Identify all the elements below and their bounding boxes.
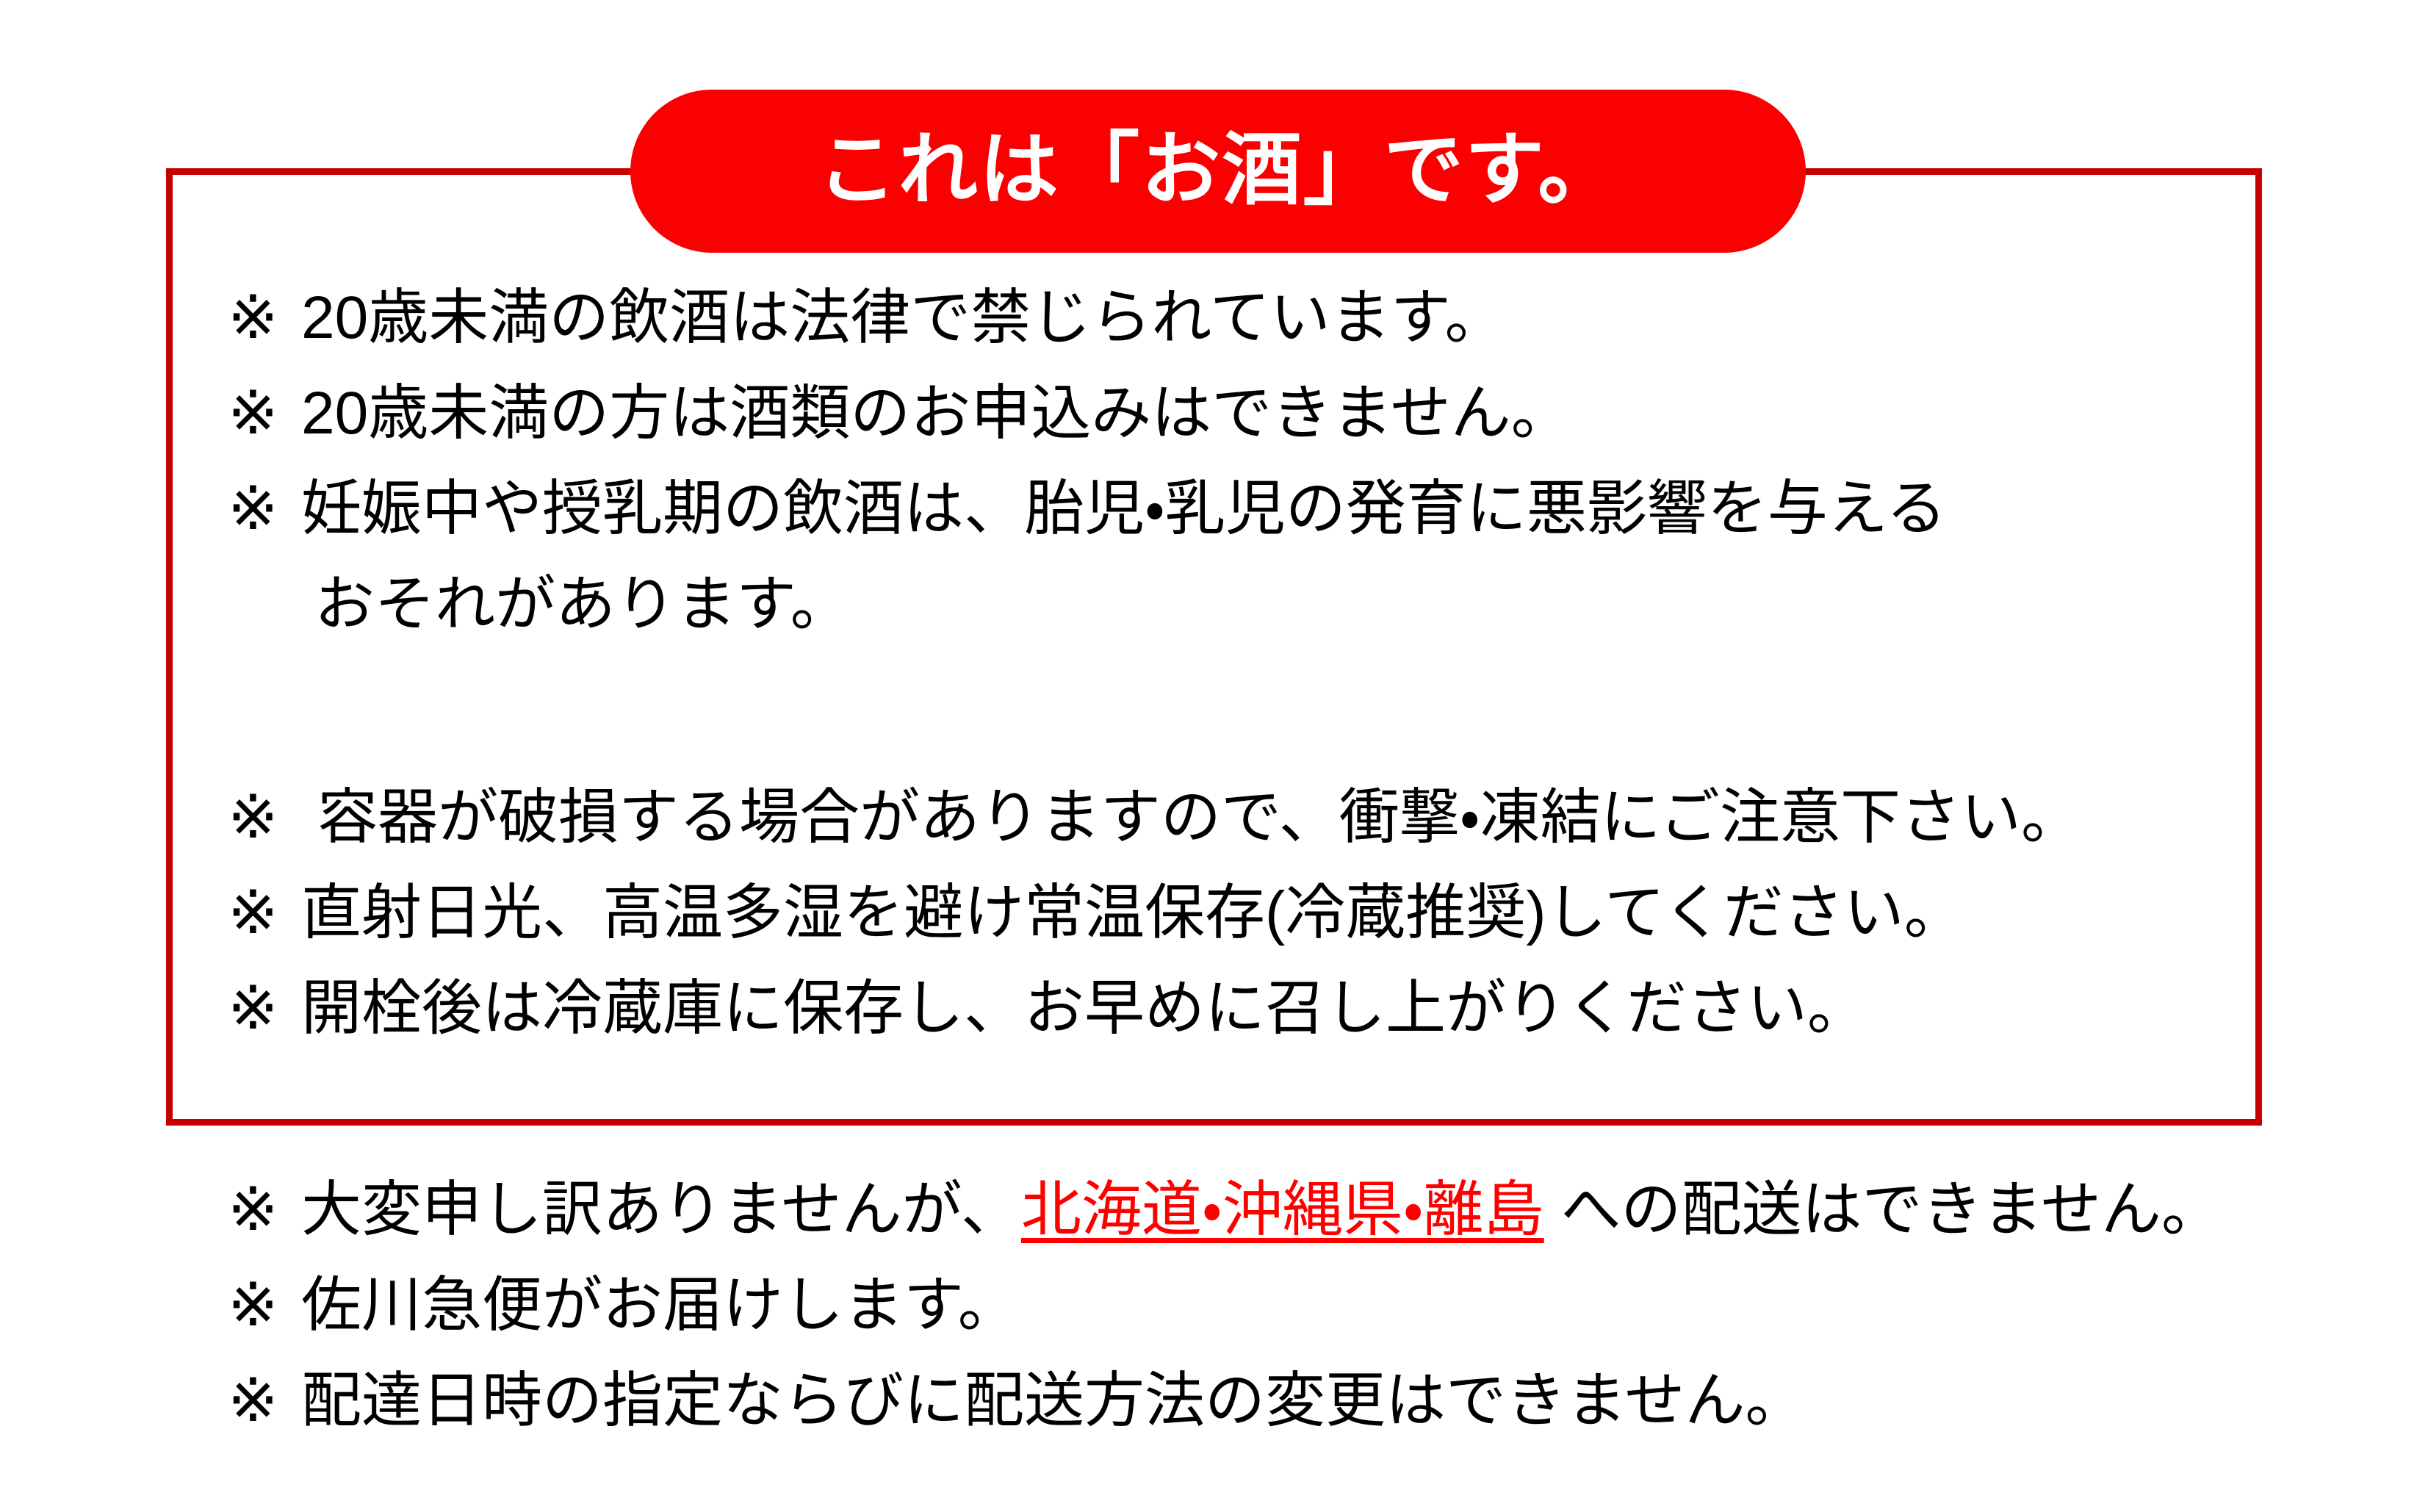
notice-line-delivery-area: ※大変申し訳ありませんが、北海道・沖縄県・離島 への配送はできません。: [228, 1162, 2226, 1258]
notice-line-carrier: ※佐川急便がお届けします。: [228, 1258, 2226, 1353]
notice-line-schedule-text: 配達日時の指定ならびに配送方法の変更はできません。: [301, 1367, 1806, 1434]
notice-line-sunlight-text: 直射日光、高温多湿を避け常温保存(冷蔵推奨)してください。: [301, 879, 1964, 946]
notice-line-opened-text: 開栓後は冷蔵庫に保存し、お早めに召し上がりください。: [301, 975, 1867, 1042]
notice-line-pregnancy-text: 妊娠中や授乳期の飲酒は、胎児・乳児の発育に悪影響を与える: [301, 475, 1946, 542]
notice-line-pregnancy-cont-text: おそれがあります。: [314, 571, 851, 638]
notice-line-pregnancy: ※妊娠中や授乳期の飲酒は、胎児・乳児の発育に悪影響を与える: [228, 461, 2211, 557]
bullet-mark-icon: ※: [228, 461, 301, 557]
notice-line-age-order-text: 20歳未満の方は酒類のお申込みはできません。: [301, 380, 1571, 447]
notice-line-container: ※容器が破損する場合がありますので、衝撃・凍結にご注意下さい。: [228, 770, 2226, 865]
bullet-mark-icon: ※: [228, 770, 317, 865]
bullet-mark-icon: ※: [228, 366, 301, 461]
notice-line-pregnancy-cont: おそれがあります。: [228, 557, 2211, 652]
notice-line-sunlight: ※直射日光、高温多湿を避け常温保存(冷蔵推奨)してください。: [228, 865, 2226, 961]
notice-line-opened: ※開栓後は冷蔵庫に保存し、お早めに召し上がりください。: [228, 961, 2226, 1056]
delivery-excluded-region: 北海道・沖縄県・離島: [1021, 1176, 1544, 1243]
bullet-mark-icon: ※: [228, 1258, 301, 1353]
age-warning-group: ※20歳未満の飲酒は法律で禁じられています。 ※20歳未満の方は酒類のお申込みは…: [228, 270, 2211, 652]
storage-warning-group: ※容器が破損する場合がありますので、衝撃・凍結にご注意下さい。 ※直射日光、高温…: [228, 770, 2226, 1056]
shipping-notice-group: ※大変申し訳ありませんが、北海道・沖縄県・離島 への配送はできません。 ※佐川急…: [228, 1162, 2226, 1449]
alcohol-badge: これは「お酒」です。: [630, 90, 1806, 253]
alcohol-notice-page: { "badge": { "label": "これは「お酒」です。", "bac…: [0, 0, 2428, 1512]
notice-line-age-law: ※20歳未満の飲酒は法律で禁じられています。: [228, 270, 2211, 366]
bullet-mark-icon: ※: [228, 961, 301, 1056]
notice-line-age-law-text: 20歳未満の飲酒は法律で禁じられています。: [301, 284, 1505, 351]
notice-line-schedule: ※配達日時の指定ならびに配送方法の変更はできません。: [228, 1353, 2226, 1449]
notice-line-age-order: ※20歳未満の方は酒類のお申込みはできません。: [228, 366, 2211, 461]
delivery-area-suffix: への配送はできません。: [1544, 1176, 2222, 1243]
bullet-mark-icon: ※: [228, 1353, 301, 1449]
notice-line-container-text: 容器が破損する場合がありますので、衝撃・凍結にご注意下さい。: [317, 784, 2081, 851]
alcohol-badge-label: これは「お酒」です。: [818, 130, 1619, 209]
bullet-mark-icon: ※: [228, 865, 301, 961]
delivery-area-prefix: 大変申し訳ありませんが、: [301, 1176, 1021, 1243]
notice-line-carrier-text: 佐川急便がお届けします。: [301, 1272, 1018, 1339]
bullet-mark-icon: ※: [228, 270, 301, 366]
bullet-mark-icon: ※: [228, 1162, 301, 1258]
